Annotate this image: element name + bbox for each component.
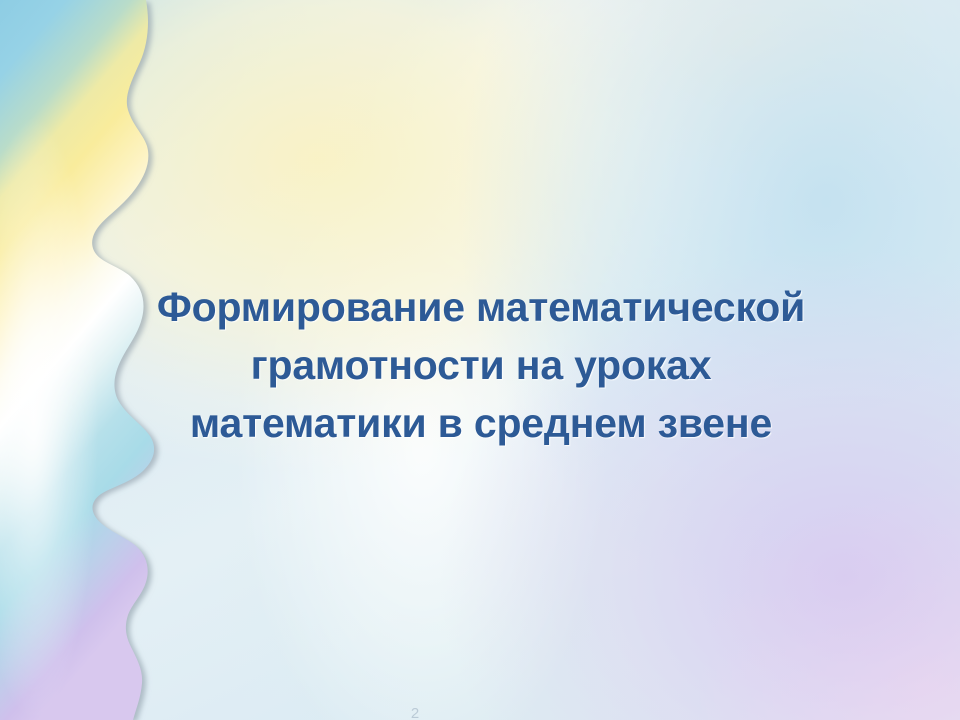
title-slide: Формирование математической грамотности … [0, 0, 960, 720]
title-line-3: математики в среднем звене [78, 394, 884, 452]
footer-page-glyph: 2 [402, 706, 428, 720]
title-line-1: Формирование математической [78, 278, 884, 336]
slide-title: Формирование математической грамотности … [78, 278, 884, 453]
title-line-2: грамотности на уроках [78, 336, 884, 394]
